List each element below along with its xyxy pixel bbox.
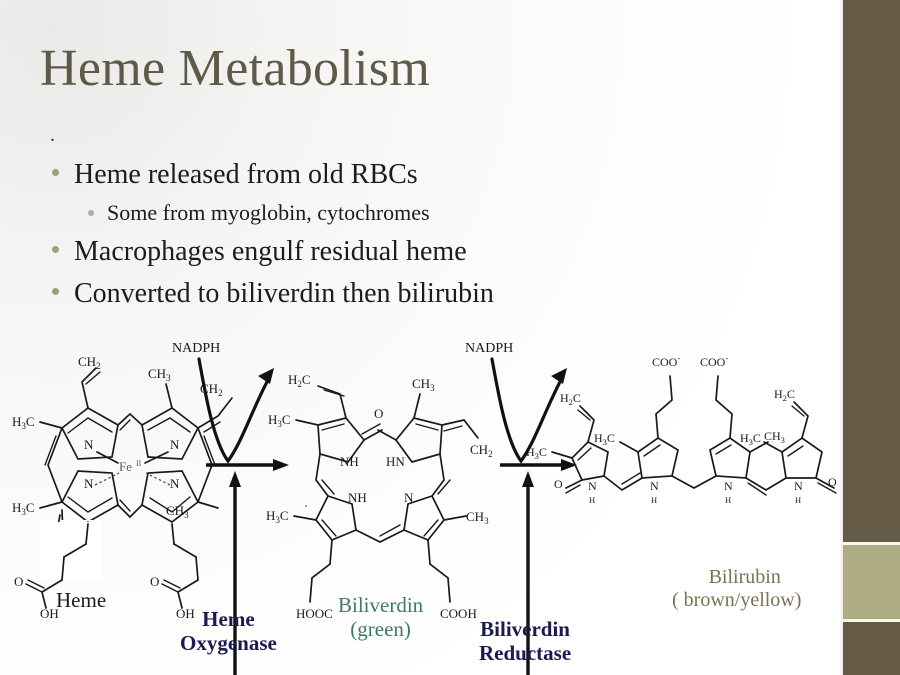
bilirubin-nh: N xyxy=(650,479,659,493)
bullet-dot-icon xyxy=(88,210,94,216)
bilirubin-methyl: H3C xyxy=(526,445,547,461)
heme-carbonyl-o: O xyxy=(150,574,159,589)
bilirubin-vinyl: H2C xyxy=(560,391,581,407)
heme-vinyl-label: CH2 xyxy=(78,354,101,371)
biliverdin-structure: O NH H2C H3C NH H3C xyxy=(266,372,493,621)
biliverdin-vinyl: H2C xyxy=(288,372,311,389)
list-item: Some from myoglobin, cytochromes xyxy=(46,198,806,229)
bilirubin-nh-h: H xyxy=(651,495,657,505)
heme-methyl-label: H3C xyxy=(12,500,35,517)
heme-carbonyl-o: O xyxy=(14,574,23,589)
bilirubin-nh-h: H xyxy=(795,495,801,505)
label-biliverdin-reductase-line2: Reductase xyxy=(479,642,571,666)
biliverdin-methyl: CH3 xyxy=(466,509,489,526)
heme-nitrogen-label: N xyxy=(170,437,180,452)
list-item: Converted to biliverdin then bilirubin xyxy=(46,274,806,314)
biliverdin-methyl: H3C xyxy=(266,508,289,525)
sidebar-bar-gap-bottom xyxy=(843,619,900,622)
bilirubin-vinyl: H2C xyxy=(774,387,795,403)
bilirubin-methyl: H3C xyxy=(594,431,615,447)
biliverdin-nh: NH xyxy=(340,454,359,469)
bullet-text: Converted to biliverdin then bilirubin xyxy=(74,274,494,314)
heme-structure: N N N N Fe II CH2 CH3 xyxy=(12,354,232,621)
sidebar-bar-accent xyxy=(843,545,900,619)
heme-methyl-label: H3C xyxy=(12,414,35,431)
label-biliverdin: Biliverdin (green) xyxy=(338,594,423,642)
bilirubin-carbonyl-o: O xyxy=(828,475,837,489)
bullet-text: Macrophages engulf residual heme xyxy=(74,232,467,272)
biliverdin-carboxyl: HOOC xyxy=(296,606,333,621)
label-biliverdin-reductase: Biliverdin Reductase xyxy=(479,618,571,665)
label-biliverdin-reductase-line1: Biliverdin xyxy=(479,618,571,642)
biliverdin-n: N xyxy=(404,490,414,505)
bilirubin-carboxylate: COO- xyxy=(652,353,680,369)
biliverdin-methyl: CH3 xyxy=(412,376,435,393)
heme-iron-charge: II xyxy=(136,459,142,468)
biliverdin-hn: HN xyxy=(386,454,405,469)
bullet-dot-icon xyxy=(52,288,59,295)
biliverdin-methyl: H3C xyxy=(268,412,291,429)
heme-iron-label: Fe xyxy=(119,459,132,474)
label-heme-oxygenase-line1: Heme xyxy=(180,608,277,632)
bilirubin-nh: N xyxy=(794,479,803,493)
cofactor-label-nadph: NADPH xyxy=(465,341,513,356)
bilirubin-methyl: H3C xyxy=(740,431,761,447)
cofactor-label-nadph: NADPH xyxy=(172,341,220,356)
label-heme-oxygenase: Heme Oxygenase xyxy=(180,608,277,655)
bilirubin-methyl: CH3 xyxy=(764,429,785,445)
heme-nitrogen-label: N xyxy=(170,476,180,491)
bullet-list: Heme released from old RBCs Some from my… xyxy=(46,155,806,317)
heme-methyl-label: CH3 xyxy=(166,503,189,520)
bilirubin-nh-h: H xyxy=(589,495,595,505)
biliverdin-nh: NH xyxy=(348,490,367,505)
label-bilirubin: Bilirubin ( brown/yellow) xyxy=(688,566,801,612)
bullet-dot-icon xyxy=(52,246,59,253)
list-item: Heme released from old RBCs xyxy=(46,155,806,195)
heme-nitrogen-label: N xyxy=(84,476,94,491)
label-heme: Heme xyxy=(56,588,106,613)
page-title: Heme Metabolism xyxy=(40,42,430,97)
bilirubin-structure: O N H H3C H2C N H H3C xyxy=(526,353,837,505)
label-bilirubin-line2: ( brown/yellow) xyxy=(672,589,801,612)
bullet-dot-icon xyxy=(52,169,59,176)
bilirubin-carboxylate: COO- xyxy=(700,353,728,369)
heme-methyl-label: CH3 xyxy=(148,366,171,383)
bilirubin-nh: N xyxy=(724,479,733,493)
bullet-text: Some from myoglobin, cytochromes xyxy=(107,198,430,229)
label-heme-oxygenase-line2: Oxygenase xyxy=(180,632,277,656)
stray-mark: . xyxy=(50,125,55,145)
label-biliverdin-line1: Biliverdin xyxy=(338,594,423,618)
bilirubin-nh-h: H xyxy=(725,495,731,505)
bilirubin-nh: N xyxy=(588,479,597,493)
list-item: Macrophages engulf residual heme xyxy=(46,232,806,272)
bilirubin-carbonyl-o: O xyxy=(554,477,563,491)
heme-nitrogen-label: N xyxy=(84,437,94,452)
label-bilirubin-line1: Bilirubin xyxy=(688,566,801,589)
biliverdin-vinyl: CH2 xyxy=(470,442,493,459)
biliverdin-carbonyl-o: O xyxy=(374,406,383,421)
label-biliverdin-line2: (green) xyxy=(338,618,423,642)
bullet-text: Heme released from old RBCs xyxy=(74,155,418,195)
biliverdin-carboxyl: COOH xyxy=(440,606,477,621)
slide: Heme Metabolism . Heme released from old… xyxy=(0,0,900,675)
